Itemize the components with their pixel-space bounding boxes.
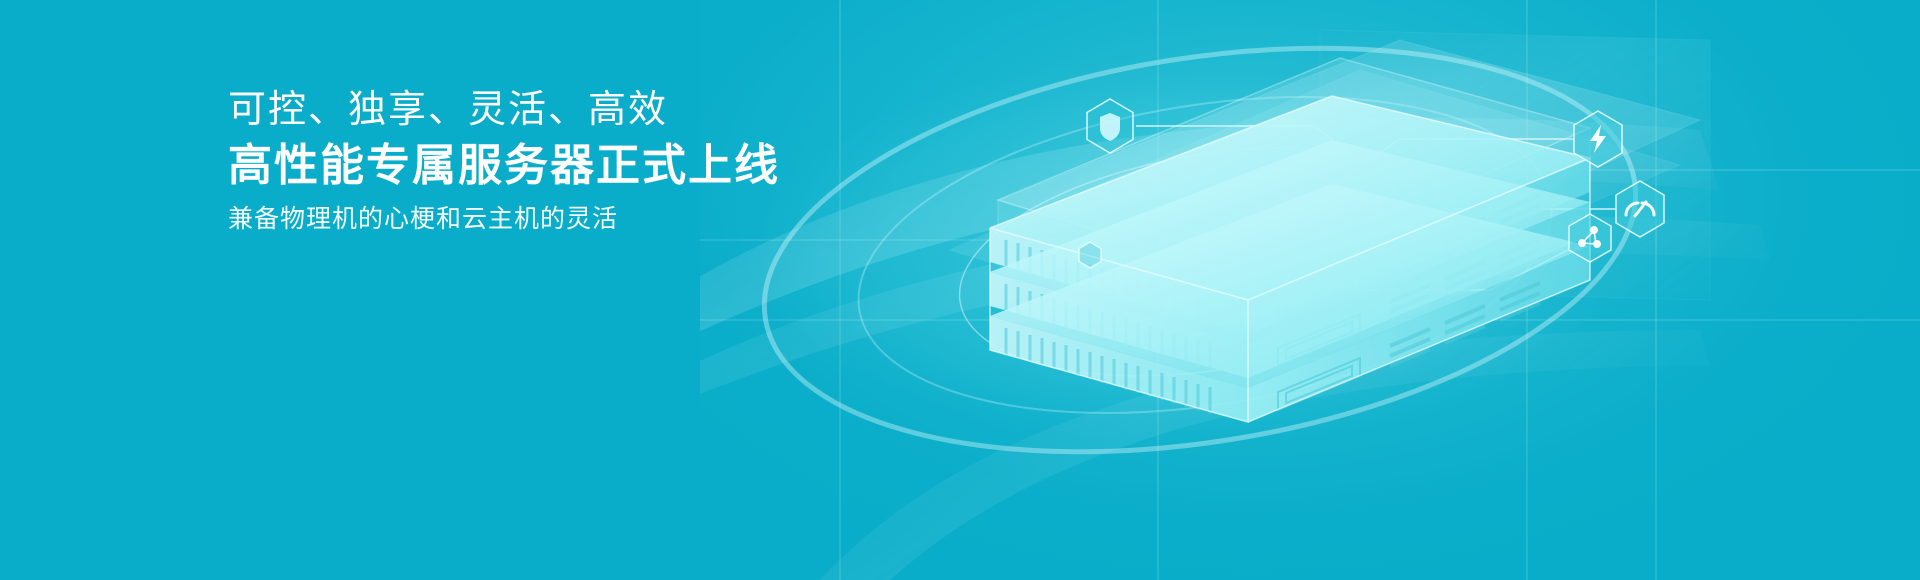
hexagon-icon	[1079, 242, 1101, 268]
hero-banner: 可控、独享、灵活、高效 高性能专属服务器正式上线 兼备物理机的心梗和云主机的灵活	[0, 0, 1920, 580]
server-illustration	[700, 0, 1920, 580]
node-blank	[1079, 242, 1101, 268]
